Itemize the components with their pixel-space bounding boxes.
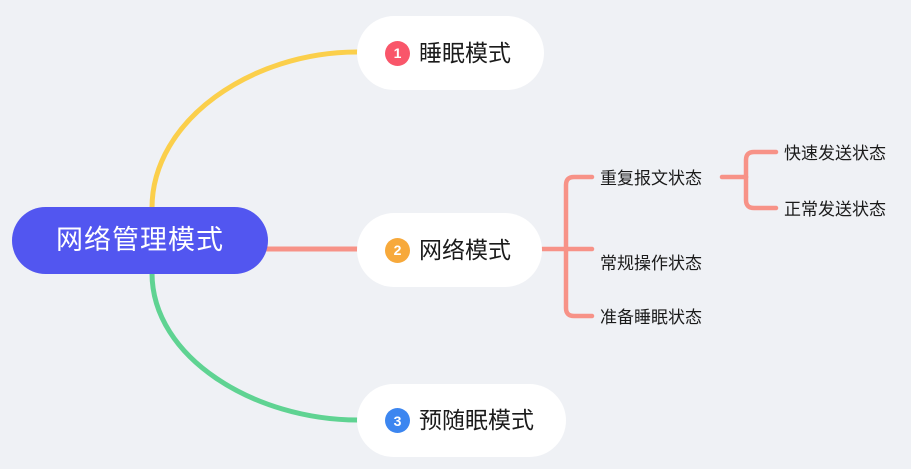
branch-badge-1: 1 (385, 41, 410, 66)
leaf-node-fast-send-state[interactable]: 快速发送状态 (784, 145, 886, 162)
branch-badge-2: 2 (385, 238, 410, 263)
branch-node-network-mode[interactable]: 2 网络模式 (357, 213, 542, 287)
link-bracket-sub-1 (566, 177, 592, 249)
link-bracket-leaf-2 (746, 177, 776, 208)
mindmap-canvas: 网络管理模式 1 睡眠模式 2 网络模式 3 预随眠模式 重复报文状态 常规操作… (0, 0, 911, 469)
link-bracket-leaf-1 (746, 152, 776, 177)
root-node[interactable]: 网络管理模式 (12, 207, 268, 274)
sub-branch-normal-operation-state[interactable]: 常规操作状态 (600, 255, 702, 272)
branch-label-2: 网络模式 (419, 239, 511, 262)
branch-node-sleep-mode[interactable]: 1 睡眠模式 (357, 16, 544, 90)
link-bracket-sub-3 (566, 249, 592, 316)
sub-branch-prepare-sleep-state[interactable]: 准备睡眠状态 (600, 309, 702, 326)
link-root-to-branch-1 (152, 52, 357, 208)
root-node-label: 网络管理模式 (56, 227, 224, 254)
link-root-to-branch-3 (152, 273, 358, 420)
branch-node-pre-sleep-mode[interactable]: 3 预随眠模式 (357, 384, 566, 457)
branch-badge-3: 3 (385, 408, 410, 433)
branch-label-1: 睡眠模式 (419, 42, 511, 65)
branch-label-3: 预随眠模式 (419, 409, 534, 432)
leaf-node-normal-send-state[interactable]: 正常发送状态 (784, 201, 886, 218)
sub-branch-repeated-message-state[interactable]: 重复报文状态 (600, 170, 702, 187)
